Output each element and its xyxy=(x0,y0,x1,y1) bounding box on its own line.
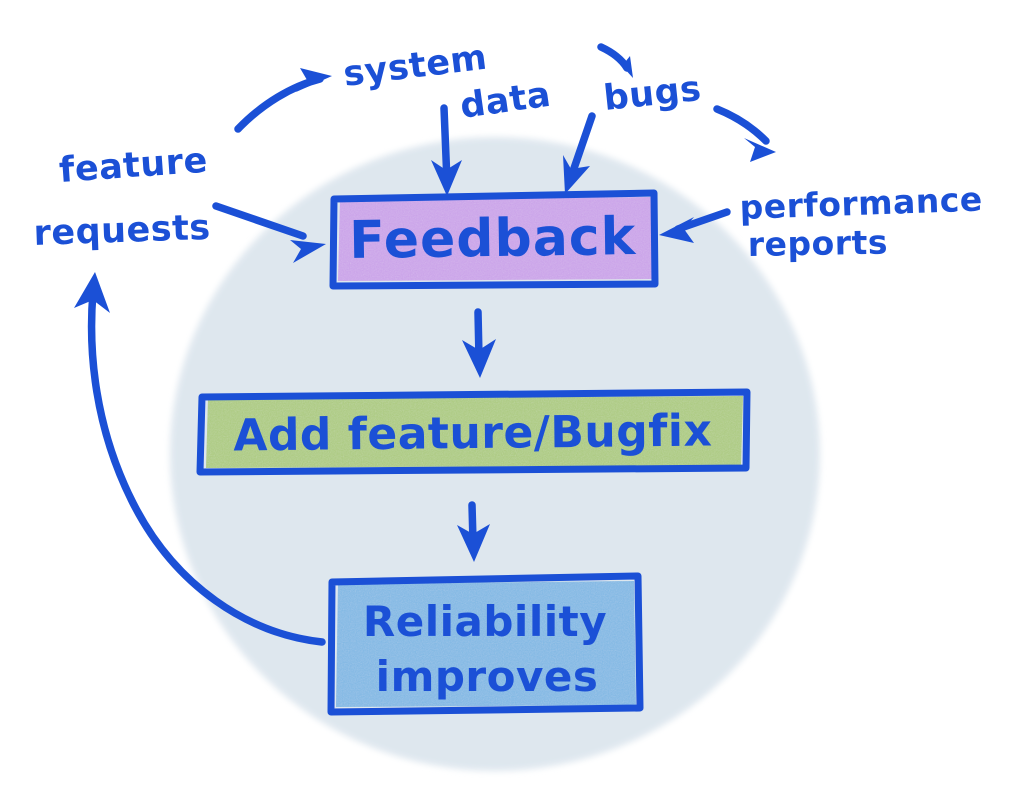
diagram-canvas: Feedback Add feature/Bugfix Reliability … xyxy=(0,0,1034,811)
feedback-box-label: Feedback xyxy=(349,207,637,271)
addfeature-box-label: Add feature/Bugfix xyxy=(233,405,712,461)
reliability-box-label-line1: Reliability xyxy=(363,597,607,646)
arrowhead xyxy=(744,138,776,162)
reliability-box-label-line2: improves xyxy=(376,652,599,701)
box-reliability-improves[interactable]: Reliability improves xyxy=(331,576,640,712)
bugs-label: bugs xyxy=(602,69,704,119)
arrow-to-system-data xyxy=(238,68,332,129)
feedback-loop-diagram: Feedback Add feature/Bugfix Reliability … xyxy=(0,0,1034,811)
box-feedback[interactable]: Feedback xyxy=(333,193,655,286)
arrowhead xyxy=(296,68,332,92)
label-bugs: bugs xyxy=(602,69,704,119)
feature-requests-line2: requests xyxy=(33,208,211,254)
feature-requests-line1: feature xyxy=(58,141,209,191)
system-data-line2: data xyxy=(458,75,554,127)
arrow-data-hook xyxy=(601,47,633,78)
performance-reports-line2: reports xyxy=(747,223,888,264)
label-performance-reports: performance reports xyxy=(739,180,983,264)
box-add-feature-bugfix[interactable]: Add feature/Bugfix xyxy=(200,392,747,472)
arrow-to-performance-reports xyxy=(717,109,776,162)
performance-reports-line1: performance xyxy=(739,180,983,227)
label-feature-requests: feature requests xyxy=(33,141,211,254)
